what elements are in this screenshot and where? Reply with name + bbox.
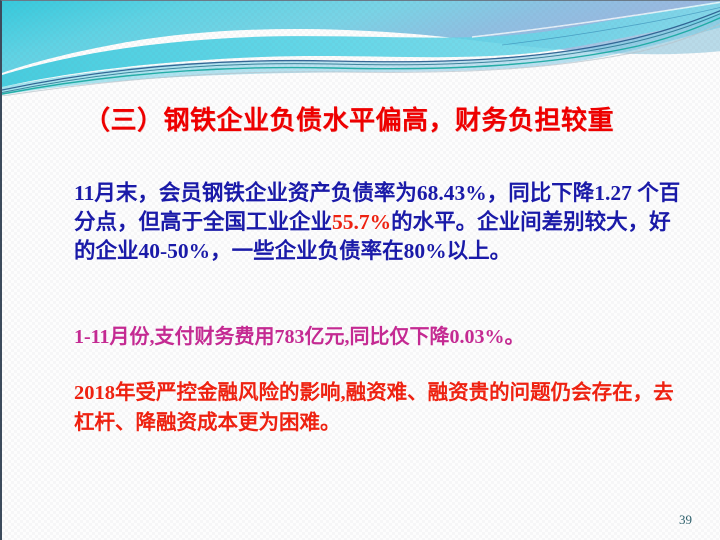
presentation-slide: （三）钢铁企业负债水平偏高，财务负担较重 11月末，会员钢铁企业资产负债率为68… bbox=[0, 0, 720, 540]
slide-content: （三）钢铁企业负债水平偏高，财务负担较重 11月末，会员钢铁企业资产负债率为68… bbox=[2, 1, 720, 540]
paragraph-1-highlight-value: 55.7% bbox=[332, 210, 391, 234]
page-number: 39 bbox=[679, 512, 692, 528]
paragraph-2018-outlook: 2018年受严控金融风险的影响,融资难、融资贵的问题仍会存在，去杠杆、降融资成本… bbox=[74, 378, 686, 438]
paragraph-debt-ratio: 11月末，会员钢铁企业资产负债率为68.43%，同比下降1.27 个百分点，但高… bbox=[74, 179, 686, 266]
paragraph-financial-expense: 1-11月份,支付财务费用783亿元,同比仅下降0.03%。 bbox=[74, 323, 686, 352]
slide-title: （三）钢铁企业负债水平偏高，财务负担较重 bbox=[84, 100, 684, 137]
